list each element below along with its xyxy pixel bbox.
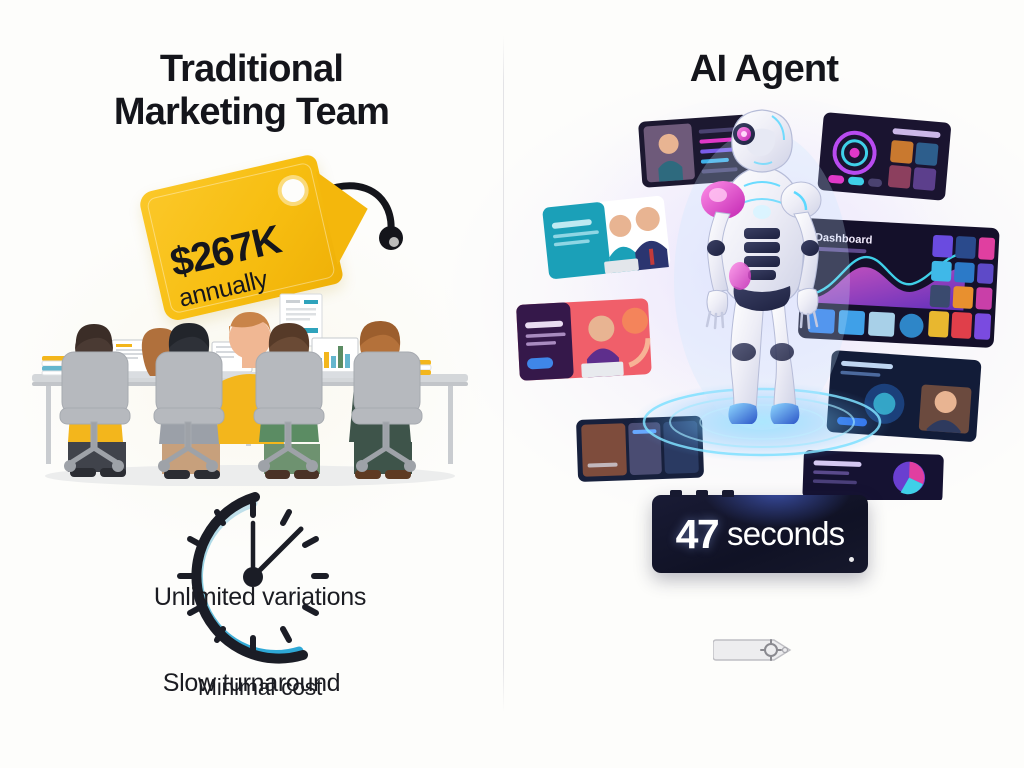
marketing-team-illustration: [24, 286, 476, 486]
page-title-left-line1: Traditional: [0, 48, 503, 91]
page-title-right: AI Agent: [504, 48, 1024, 91]
duration-unit: seconds: [727, 515, 844, 553]
caption-unlimited-variations: Unlimited variations: [0, 583, 520, 612]
duration-badge: 47 seconds: [652, 495, 868, 573]
slow-turnaround-clock-icon: [163, 487, 343, 667]
infographic-canvas: Traditional Marketing Team $267K annuall…: [0, 0, 1024, 768]
page-title-left: Traditional Marketing Team: [0, 48, 503, 135]
minimal-cost-tag-icon: [713, 636, 793, 664]
caption-minimal-cost: Minimal cost: [0, 674, 520, 701]
page-title-left-line2: Marketing Team: [0, 91, 503, 134]
card-purple-creative: [516, 298, 652, 381]
panel-traditional-marketing-team: Traditional Marketing Team $267K annuall…: [0, 0, 503, 768]
duration-number: 47: [676, 511, 718, 558]
card-business-duo: [542, 195, 671, 279]
duration-badge-text: 47 seconds: [652, 495, 868, 573]
card-data-report: [802, 450, 944, 500]
card-social-grid: [817, 112, 951, 201]
ai-agent-stage: Dashboard: [504, 100, 1024, 500]
badge-indicator-dot: [849, 557, 854, 562]
